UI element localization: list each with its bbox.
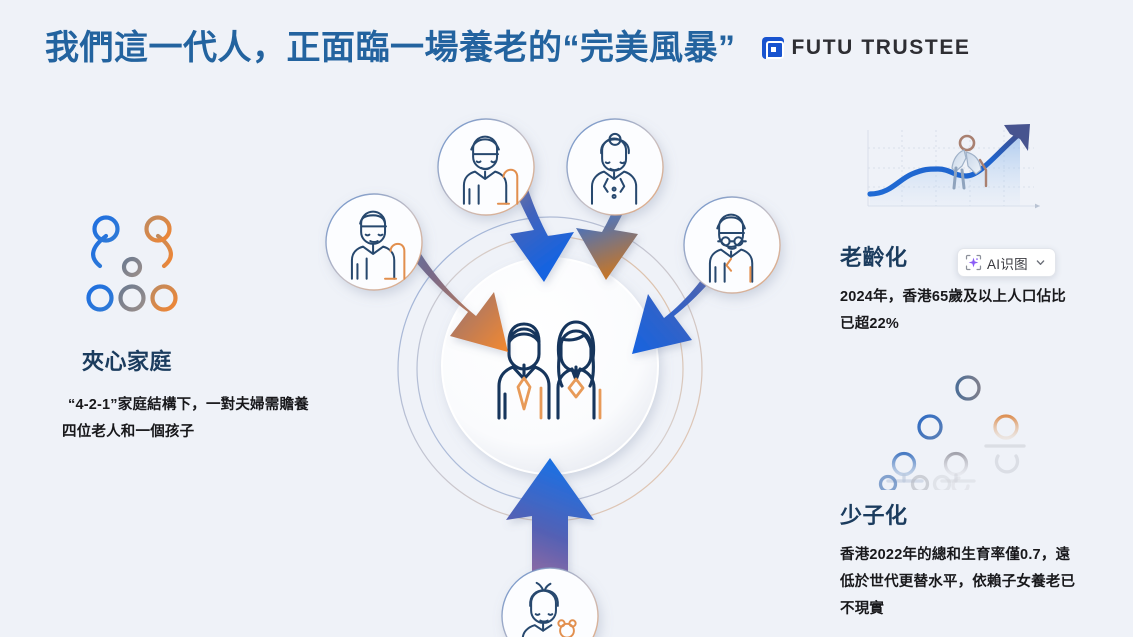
low-birthrate-heading: 少子化 xyxy=(840,504,1098,528)
slide-header: 我們這一代人，正面臨一場養老的“完美風暴” FUTU TRUSTEE xyxy=(0,0,1133,96)
futu-logo-icon xyxy=(762,37,784,59)
bubble-child-with-teddy xyxy=(502,568,598,637)
family-network-icon xyxy=(80,214,184,326)
sandwich-generation-diagram xyxy=(318,104,808,637)
bubble-elderly-man-smiling xyxy=(438,119,534,215)
shrinking-family-tree-icon xyxy=(874,372,1049,490)
bubble-elderly-woman-bun xyxy=(567,119,663,215)
aging-body: 2024年，香港65歲及以上人口佔比已超22% xyxy=(840,284,1080,338)
chevron-down-icon[interactable] xyxy=(1035,257,1046,268)
aging-panel: 老齡化 2024年，香港65歲及以上人口佔比已超22% xyxy=(840,108,1098,338)
brand-lockup: FUTU TRUSTEE xyxy=(762,36,971,60)
ai-recognize-label: AI识图 xyxy=(987,253,1028,273)
bubble-elderly-man-with-cane xyxy=(326,194,422,290)
sandwich-family-body: “4-2-1”家庭結構下，一對夫婦需贍養四位老人和一個孩子 xyxy=(62,392,316,446)
sandwich-family-heading: 夾心家庭 xyxy=(82,350,332,374)
sandwich-generation-diagram-svg xyxy=(318,104,808,637)
ai-recognize-button[interactable]: AI识图 xyxy=(957,248,1056,277)
low-birthrate-body: 香港2022年的總和生育率僅0.7，遠低於世代更替水平，依賴子女養老已不現實 xyxy=(840,542,1082,622)
bubble-elderly-man-glasses xyxy=(684,197,780,293)
brand-name: FUTU TRUSTEE xyxy=(792,36,971,60)
low-birthrate-panel: 少子化 香港2022年的總和生育率僅0.7，遠低於世代更替水平，依賴子女養老已不… xyxy=(840,372,1098,623)
ai-sparkle-icon xyxy=(965,254,982,271)
rising-chart-elderly-icon xyxy=(854,108,1059,228)
page-title: 我們這一代人，正面臨一場養老的“完美風暴” xyxy=(45,31,736,65)
right-column: 老齡化 2024年，香港65歲及以上人口佔比已超22% xyxy=(840,108,1098,622)
sandwich-family-panel: 夾心家庭 “4-2-1”家庭結構下，一對夫婦需贍養四位老人和一個孩子 xyxy=(62,214,332,446)
